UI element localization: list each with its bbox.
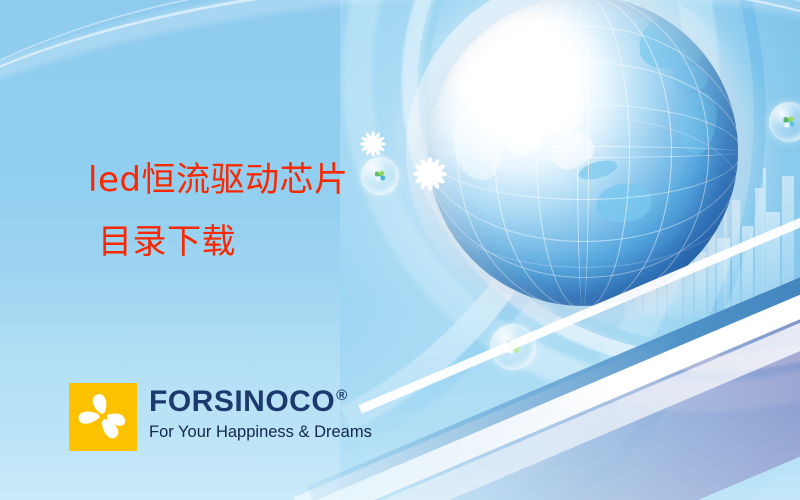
headline-block: led恒流驱动芯片 目录下载 [88,163,348,259]
starburst-flower-large [413,157,447,191]
globe-surface [428,0,738,306]
logo-company-word: FORSINOCO [149,387,335,417]
logo-tagline: For Your Happiness & Dreams [149,424,372,441]
headline-line-1: led恒流驱动芯片 [88,163,348,197]
logo-text-block: FORSINOCO ® For Your Happiness & Dreams [149,383,372,441]
bubble-pinwheel-lower [490,324,536,370]
flower-core [371,142,376,147]
pinwheel-icon [778,111,800,133]
flower-core [427,171,434,178]
pinwheel-petals-icon [69,383,137,451]
starburst-flower-small [360,131,386,157]
logo-company-name: FORSINOCO ® [149,387,372,417]
pinwheel-icon [500,334,526,360]
forsinoco-logo[interactable]: FORSINOCO ® For Your Happiness & Dreams [69,383,372,451]
headline-line-2: 目录下载 [98,225,348,259]
forsinoco-pinwheel-mark [69,383,137,451]
promo-banner: led恒流驱动芯片 目录下载 FORSINOCO ® For Your Happ… [0,0,800,500]
bubble-pinwheel-left [361,157,399,195]
world-globe [428,0,738,306]
registered-trademark-icon: ® [336,388,348,403]
globe-rim-shading [428,0,738,306]
pinwheel-icon [370,166,390,186]
